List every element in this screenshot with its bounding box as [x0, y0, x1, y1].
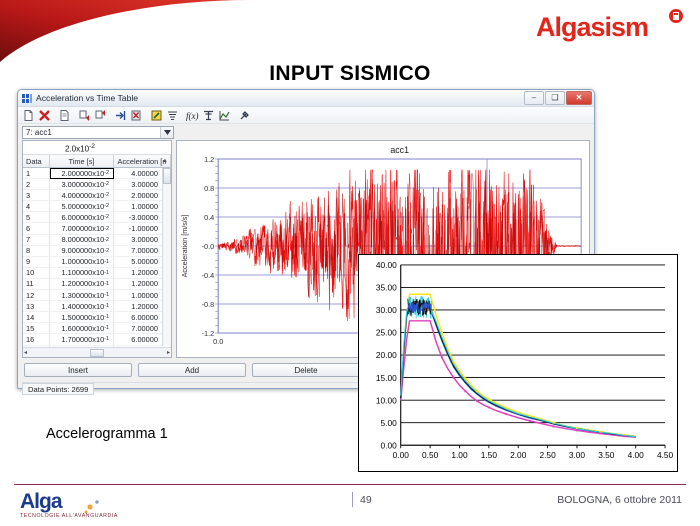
corner-swoosh-decoration [0, 0, 250, 62]
maximize-button[interactable]: ❑ [545, 91, 565, 105]
close-button[interactable]: ✕ [566, 91, 592, 105]
cell-data[interactable]: 16 [23, 334, 50, 345]
cell-time[interactable]: 1.500000x10-1 [50, 312, 114, 323]
svg-text:3.50: 3.50 [598, 450, 615, 460]
cell-time[interactable]: 3.000000x10-2 [50, 179, 114, 190]
series-combo-value: 7: acc1 [26, 128, 52, 137]
table-row[interactable]: 151.600000x10-17.00000 [23, 323, 171, 334]
minimize-icon: – [525, 92, 543, 104]
cell-time[interactable]: 5.000000x10-2 [50, 201, 114, 212]
insert-row-icon[interactable] [113, 108, 127, 122]
cell-data[interactable]: 10 [23, 268, 50, 279]
table-row[interactable]: 161.700000x10-16.00000 [23, 334, 171, 345]
dialog-title: Acceleration vs Time Table [36, 93, 138, 103]
delete-row-icon[interactable] [129, 108, 143, 122]
svg-text:20.00: 20.00 [376, 350, 397, 360]
cell-data[interactable]: 12 [23, 290, 50, 301]
table-body: 12.000000x10-24.0000023.000000x10-23.000… [23, 168, 171, 357]
table-row[interactable]: 121.300000x10-11.00000 [23, 290, 171, 301]
svg-text:2.50: 2.50 [539, 450, 556, 460]
data-points-status: Data Points: 2699 [22, 383, 94, 395]
svg-text:TECNOLOGIE ALL'AVANGUARDIA: TECNOLOGIE ALL'AVANGUARDIA [20, 513, 118, 519]
slide-caption: Accelerogramma 1 [46, 426, 168, 442]
cell-data[interactable]: 4 [23, 201, 50, 212]
cell-edit-value: 2.0x10-2 [65, 143, 95, 154]
column-header-acceleration[interactable]: Acceleration [n ▲ [114, 155, 171, 168]
svg-text:0.0: 0.0 [213, 337, 223, 346]
table-horizontal-scrollbar[interactable]: ◂ ▸ [23, 347, 171, 357]
table-row[interactable]: 101.100000x10-11.20000 [23, 268, 171, 279]
svg-text:3.00: 3.00 [569, 450, 586, 460]
paste-up-icon[interactable] [77, 108, 91, 122]
svg-text:40.00: 40.00 [376, 260, 397, 270]
cell-data[interactable]: 5 [23, 212, 50, 223]
cell-data[interactable]: 15 [23, 323, 50, 334]
sort-icon[interactable] [165, 108, 179, 122]
scrollbar-thumb[interactable] [163, 168, 171, 184]
table-row[interactable]: 141.500000x10-16.00000 [23, 312, 171, 323]
cell-time[interactable]: 1.200000x10-1 [50, 279, 114, 290]
cell-data[interactable]: 9 [23, 257, 50, 268]
new-document-icon[interactable] [21, 108, 35, 122]
svg-text:0.00: 0.00 [393, 450, 410, 460]
table-row[interactable]: 91.000000x10-15.00000 [23, 257, 171, 268]
minimize-button[interactable]: – [524, 91, 544, 105]
cell-time[interactable]: 1.700000x10-1 [50, 334, 114, 345]
svg-text:1.2: 1.2 [204, 155, 214, 164]
page-number: 49 [360, 494, 372, 506]
dialog-toolbar[interactable]: f(x) [18, 107, 594, 124]
svg-text:1.00: 1.00 [451, 450, 468, 460]
cell-data[interactable]: 3 [23, 190, 50, 201]
tools-icon[interactable] [237, 108, 251, 122]
cell-edit-box[interactable]: 2.0x10-2 [23, 141, 171, 155]
table-row[interactable]: 67.000000x10-2-1.00000 [23, 223, 171, 234]
cell-time[interactable]: 4.000000x10-2 [50, 190, 114, 201]
svg-text:4.50: 4.50 [657, 450, 674, 460]
svg-text:0.8: 0.8 [204, 184, 214, 193]
close-icon: ✕ [567, 92, 591, 104]
svg-text:1.50: 1.50 [481, 450, 498, 460]
svg-text:25.00: 25.00 [376, 328, 397, 338]
chart-icon[interactable] [217, 108, 231, 122]
svg-text:15.00: 15.00 [376, 373, 397, 383]
cell-data[interactable]: 7 [23, 235, 50, 246]
algasism-logo: Algasism [534, 6, 690, 46]
cell-time[interactable]: 1.600000x10-1 [50, 323, 114, 334]
svg-text:Algasism: Algasism [536, 12, 648, 42]
table-row[interactable]: 78.000000x10-23.00000 [23, 235, 171, 246]
svg-text:10.00: 10.00 [376, 395, 397, 405]
table-row[interactable]: 131.400000x10-11.20000 [23, 301, 171, 312]
svg-text:Acceleration [m/s/s]: Acceleration [m/s/s] [181, 215, 189, 278]
footer-separator [352, 492, 353, 507]
table-row[interactable]: 89.000000x10-27.00000 [23, 246, 171, 257]
svg-text:Alga: Alga [20, 490, 63, 513]
svg-text:-0.4: -0.4 [202, 271, 215, 280]
alga-logo: Alga TECNOLOGIE ALL'AVANGUARDIA [18, 487, 130, 521]
cell-time[interactable]: 1.300000x10-1 [50, 290, 114, 301]
cell-time[interactable]: 6.000000x10-2 [50, 212, 114, 223]
response-spectrum-chart[interactable]: 0.005.0010.0015.0020.0025.0030.0035.0040… [358, 254, 678, 472]
window-buttons: – ❑ ✕ [524, 91, 592, 105]
cell-time[interactable]: 2.000000x10-2 [50, 168, 114, 179]
maximize-icon: ❑ [546, 92, 564, 104]
cell-time[interactable]: 7.000000x10-2 [50, 223, 114, 234]
cell-data[interactable]: 6 [23, 223, 50, 234]
scroll-left-arrow-icon[interactable]: ◂ [24, 349, 27, 356]
column-header-data[interactable]: Data [23, 155, 50, 168]
footer-divider [14, 484, 686, 485]
footer-place-date: BOLOGNA, 6 ottobre 2011 [557, 494, 682, 506]
column-header-time[interactable]: Time [s] [50, 155, 114, 168]
table-row[interactable]: 12.000000x10-24.00000 [23, 168, 171, 179]
import-icon[interactable] [149, 108, 163, 122]
insert-button[interactable]: Insert [24, 363, 132, 377]
cell-data[interactable]: 13 [23, 301, 50, 312]
cell-data[interactable]: 11 [23, 279, 50, 290]
svg-text:0.4: 0.4 [204, 213, 214, 222]
data-table-pane[interactable]: 2.0x10-2 Data Time [s] Acceleration [n ▲… [22, 140, 172, 358]
table-row[interactable]: 45.000000x10-21.00000 [23, 201, 171, 212]
table-row[interactable]: 56.000000x10-2-3.00000 [23, 212, 171, 223]
table-grid-icon [22, 94, 32, 103]
table-vertical-scrollbar[interactable] [162, 168, 171, 346]
cell-time[interactable]: 8.000000x10-2 [50, 235, 114, 246]
cell-data[interactable]: 8 [23, 246, 50, 257]
cell-time[interactable]: 1.000000x10-1 [50, 257, 114, 268]
table-header-row: Data Time [s] Acceleration [n ▲ [23, 155, 171, 168]
svg-text:f(x): f(x) [186, 111, 199, 121]
svg-text:4.00: 4.00 [628, 450, 645, 460]
paste-down-icon[interactable] [93, 108, 107, 122]
slide: Algasism INPUT SISMICO Acceleration vs T… [0, 0, 700, 525]
function-icon[interactable]: f(x) [185, 108, 199, 122]
cell-data[interactable]: 1 [23, 168, 50, 179]
delete-button[interactable]: Delete [252, 363, 360, 377]
svg-text:5.00: 5.00 [381, 418, 398, 428]
series-combo[interactable]: 7: acc1 [22, 126, 174, 139]
svg-text:30.00: 30.00 [376, 305, 397, 315]
cell-data[interactable]: 14 [23, 312, 50, 323]
delete-red-x-icon[interactable] [37, 108, 51, 122]
chevron-down-icon[interactable] [160, 127, 173, 138]
table-row[interactable]: 34.000000x10-22.00000 [23, 190, 171, 201]
page-title: INPUT SISMICO [0, 62, 700, 86]
cell-time[interactable]: 1.400000x10-1 [50, 301, 114, 312]
cell-time[interactable]: 9.000000x10-2 [50, 246, 114, 257]
add-button[interactable]: Add [138, 363, 246, 377]
sort-ascending-icon: ▲ [162, 158, 168, 164]
svg-text:0.50: 0.50 [422, 450, 439, 460]
svg-text:acc1: acc1 [390, 145, 409, 155]
cell-time[interactable]: 1.100000x10-1 [50, 268, 114, 279]
svg-text:-0.8: -0.8 [202, 300, 215, 309]
hscrollbar-thumb[interactable] [90, 349, 104, 357]
filter-icon[interactable] [201, 108, 215, 122]
scroll-right-arrow-icon[interactable]: ▸ [167, 349, 170, 356]
svg-text:-0.0: -0.0 [202, 242, 215, 251]
table-row[interactable]: 23.000000x10-23.00000 [23, 179, 171, 190]
dialog-titlebar[interactable]: Acceleration vs Time Table – ❑ ✕ [18, 90, 594, 107]
table-row[interactable]: 111.200000x10-11.20000 [23, 279, 171, 290]
cell-data[interactable]: 2 [23, 179, 50, 190]
svg-text:35.00: 35.00 [376, 283, 397, 293]
svg-text:2.00: 2.00 [510, 450, 527, 460]
svg-text:0.00: 0.00 [381, 440, 398, 450]
series-selector-row: 7: acc1 [18, 124, 594, 140]
copy-document-icon[interactable] [57, 108, 71, 122]
